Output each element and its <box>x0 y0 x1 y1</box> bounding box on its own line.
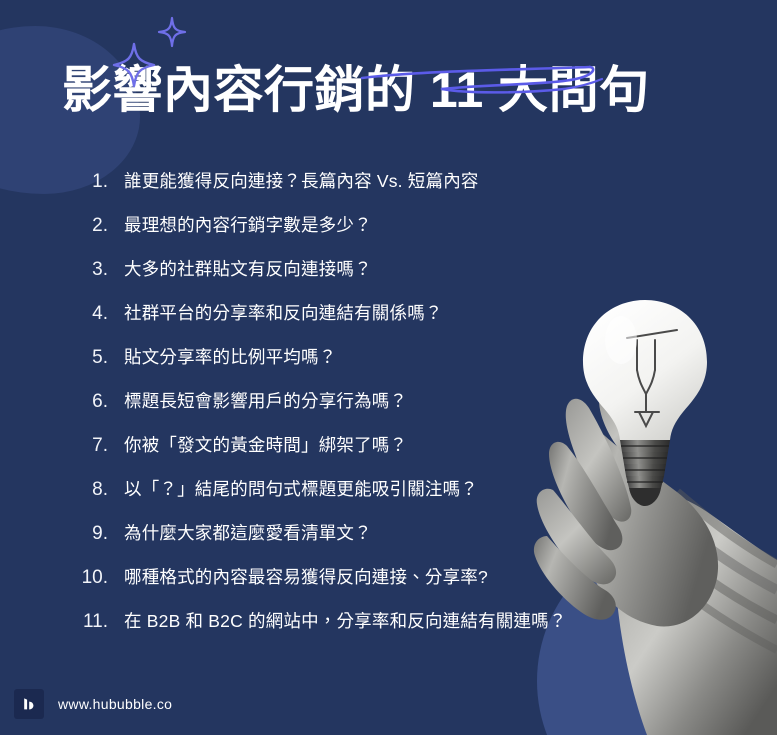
page-title: 影響內容行銷的 11 大問句 <box>62 62 722 118</box>
list-item-number: 5. <box>60 347 124 369</box>
list-item-number: 3. <box>60 259 124 281</box>
list-item: 6. 標題長短會影響用戶的分享行為嗎？ <box>60 390 620 434</box>
list-item-number: 6. <box>60 391 124 413</box>
hububble-logo-icon[interactable] <box>14 689 44 719</box>
list-item-text: 你被「發文的黃金時間」綁架了嗎？ <box>124 434 407 457</box>
list-item: 7. 你被「發文的黃金時間」綁架了嗎？ <box>60 434 620 478</box>
list-item: 4. 社群平台的分享率和反向連結有關係嗎？ <box>60 302 620 346</box>
list-item: 5. 貼文分享率的比例平均嗎？ <box>60 346 620 390</box>
list-item: 1. 誰更能獲得反向連接？長篇內容 Vs. 短篇內容 <box>60 170 620 214</box>
list-item: 10. 哪種格式的內容最容易獲得反向連接、分享率? <box>60 566 620 610</box>
list-item: 9. 為什麼大家都這麼愛看清單文？ <box>60 522 620 566</box>
list-item-text: 大多的社群貼文有反向連接嗎？ <box>124 258 372 281</box>
question-list: 1. 誰更能獲得反向連接？長篇內容 Vs. 短篇內容 2. 最理想的內容行銷字數… <box>60 170 620 654</box>
list-item: 8. 以「？」結尾的問句式標題更能吸引關注嗎？ <box>60 478 620 522</box>
list-item-text: 以「？」結尾的問句式標題更能吸引關注嗎？ <box>124 478 478 501</box>
list-item-number: 1. <box>60 171 124 193</box>
list-item: 3. 大多的社群貼文有反向連接嗎？ <box>60 258 620 302</box>
footer-url[interactable]: www.hububble.co <box>58 696 172 712</box>
list-item-number: 9. <box>60 523 124 545</box>
slide-canvas: 影響內容行銷的 11 大問句 1. 誰更能獲得反向連接？長篇內容 Vs. 短篇內… <box>0 0 777 735</box>
footer: www.hububble.co <box>14 689 172 719</box>
logo-glyph-icon <box>21 696 37 712</box>
title-block: 影響內容行銷的 11 大問句 <box>62 62 722 118</box>
list-item-number: 7. <box>60 435 124 457</box>
list-item-number: 8. <box>60 479 124 501</box>
list-item-text: 標題長短會影響用戶的分享行為嗎？ <box>124 390 407 413</box>
list-item-number: 2. <box>60 215 124 237</box>
list-item-text: 在 B2B 和 B2C 的網站中，分享率和反向連結有關連嗎？ <box>124 610 567 633</box>
list-item-text: 哪種格式的內容最容易獲得反向連接、分享率? <box>124 566 488 589</box>
list-item-text: 為什麼大家都這麼愛看清單文？ <box>124 522 372 545</box>
list-item-text: 最理想的內容行銷字數是多少？ <box>124 214 372 237</box>
list-item-number: 11. <box>60 611 124 633</box>
list-item-text: 誰更能獲得反向連接？長篇內容 Vs. 短篇內容 <box>124 170 479 193</box>
list-item-text: 社群平台的分享率和反向連結有關係嗎？ <box>124 302 443 325</box>
sparkle-small-four-point-icon <box>159 18 185 46</box>
list-item: 11. 在 B2B 和 B2C 的網站中，分享率和反向連結有關連嗎？ <box>60 610 620 654</box>
list-item-number: 10. <box>60 567 124 589</box>
list-item: 2. 最理想的內容行銷字數是多少？ <box>60 214 620 258</box>
list-item-number: 4. <box>60 303 124 325</box>
list-item-text: 貼文分享率的比例平均嗎？ <box>124 346 336 369</box>
